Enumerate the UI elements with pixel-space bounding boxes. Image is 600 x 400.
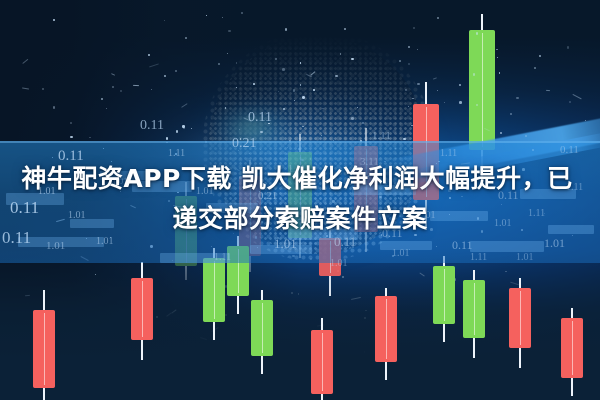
candlestick-body bbox=[433, 266, 455, 324]
headline-line-2: 递交部分索赔案件立案 bbox=[0, 199, 600, 239]
candlestick-up bbox=[433, 256, 455, 342]
candlestick-body bbox=[33, 310, 55, 388]
candlestick-up bbox=[463, 270, 485, 358]
candlestick-body bbox=[131, 278, 153, 340]
headline: 神牛配资APP下载 凯大催化净利润大幅提升，已 递交部分索赔案件立案 bbox=[0, 159, 600, 239]
candlestick-body bbox=[311, 330, 333, 394]
headline-line-1: 神牛配资APP下载 凯大催化净利润大幅提升，已 bbox=[0, 159, 600, 199]
candlestick-down bbox=[509, 278, 531, 368]
candlestick-down bbox=[33, 290, 55, 400]
candlestick-body bbox=[509, 288, 531, 348]
candlestick-down bbox=[375, 288, 397, 380]
candlestick-down bbox=[311, 318, 333, 400]
candlestick-body bbox=[203, 258, 225, 322]
candlestick-body bbox=[375, 296, 397, 362]
candlestick-body bbox=[251, 300, 273, 356]
stock-news-banner: 0.110.110.111.011.011.011.011.010.111.11… bbox=[0, 0, 600, 400]
candlestick-body bbox=[561, 318, 583, 378]
candlestick-down bbox=[131, 262, 153, 360]
band-top-edge bbox=[0, 141, 600, 143]
candlestick-up bbox=[251, 290, 273, 374]
candlestick-body bbox=[463, 280, 485, 338]
candlestick-down bbox=[561, 308, 583, 396]
